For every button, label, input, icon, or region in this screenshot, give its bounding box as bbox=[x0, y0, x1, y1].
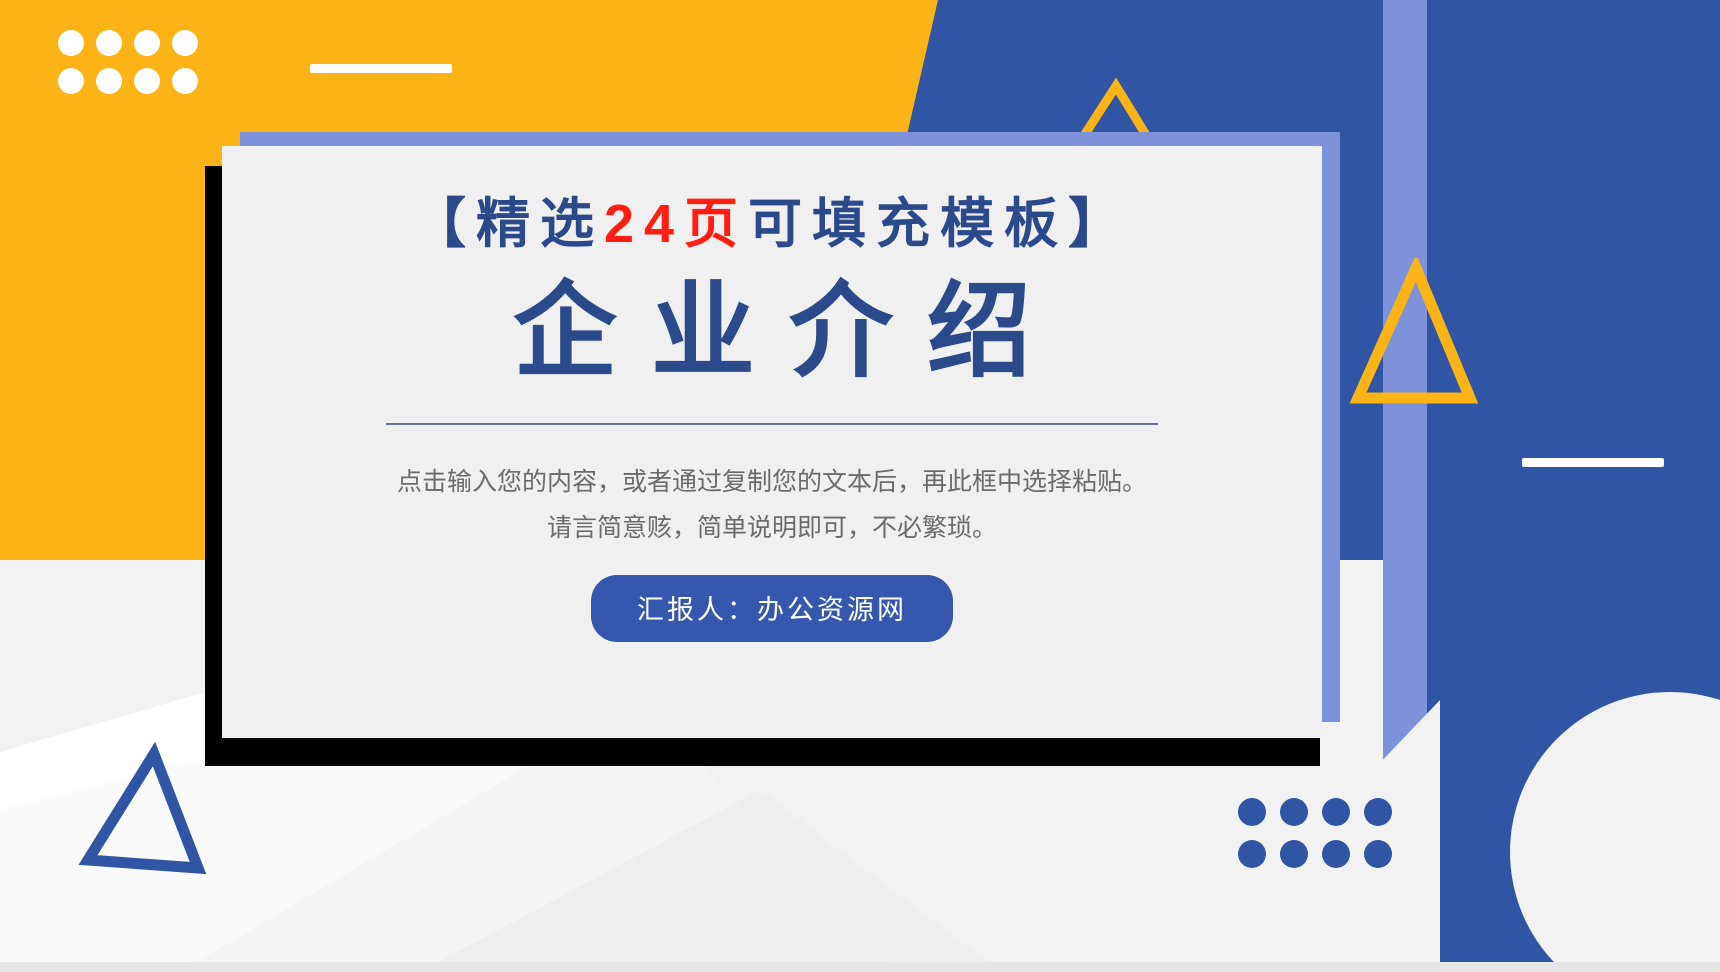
reporter-button[interactable]: 汇报人：办公资源网 bbox=[591, 575, 953, 642]
dot bbox=[134, 30, 160, 56]
dot bbox=[1238, 798, 1266, 826]
white-dash-top-icon bbox=[310, 64, 452, 73]
title-card: 【精选24页可填充模板】 企业介绍 点击输入您的内容，或者通过复制您的文本后，再… bbox=[222, 146, 1322, 738]
subtitle-line-1: 点击输入您的内容，或者通过复制您的文本后，再此框中选择粘贴。 bbox=[397, 459, 1147, 505]
eyebrow-highlight: 24页 bbox=[604, 194, 748, 254]
white-dash-right-icon bbox=[1522, 458, 1664, 467]
subtitle-block: 点击输入您的内容，或者通过复制您的文本后，再此框中选择粘贴。 请言简意赅，简单说… bbox=[397, 459, 1147, 552]
dot bbox=[1322, 840, 1350, 868]
title-divider bbox=[386, 423, 1158, 425]
subtitle-line-2: 请言简意赅，简单说明即可，不必繁琐。 bbox=[397, 505, 1147, 551]
eyebrow-text: 【精选24页可填充模板】 bbox=[412, 192, 1132, 257]
dot bbox=[172, 30, 198, 56]
white-dot-grid bbox=[58, 30, 198, 94]
dot bbox=[1280, 840, 1308, 868]
blue-dot-grid bbox=[1238, 798, 1392, 868]
eyebrow-suffix: 可填充模板】 bbox=[748, 194, 1132, 254]
orange-triangle-right-icon bbox=[1348, 258, 1478, 408]
dot bbox=[1280, 798, 1308, 826]
page-title: 企业介绍 bbox=[479, 267, 1065, 397]
blue-triangle-bottom-icon bbox=[76, 742, 216, 882]
bottom-edge-strip bbox=[0, 962, 1720, 972]
dot bbox=[1364, 840, 1392, 868]
dot bbox=[172, 68, 198, 94]
dot bbox=[96, 30, 122, 56]
dot bbox=[58, 68, 84, 94]
eyebrow-prefix: 【精选 bbox=[412, 194, 604, 254]
dot bbox=[1322, 798, 1350, 826]
dot bbox=[1238, 840, 1266, 868]
slide-canvas: 【精选24页可填充模板】 企业介绍 点击输入您的内容，或者通过复制您的文本后，再… bbox=[0, 0, 1720, 972]
dot bbox=[134, 68, 160, 94]
dot bbox=[1364, 798, 1392, 826]
dot bbox=[58, 30, 84, 56]
dot bbox=[96, 68, 122, 94]
